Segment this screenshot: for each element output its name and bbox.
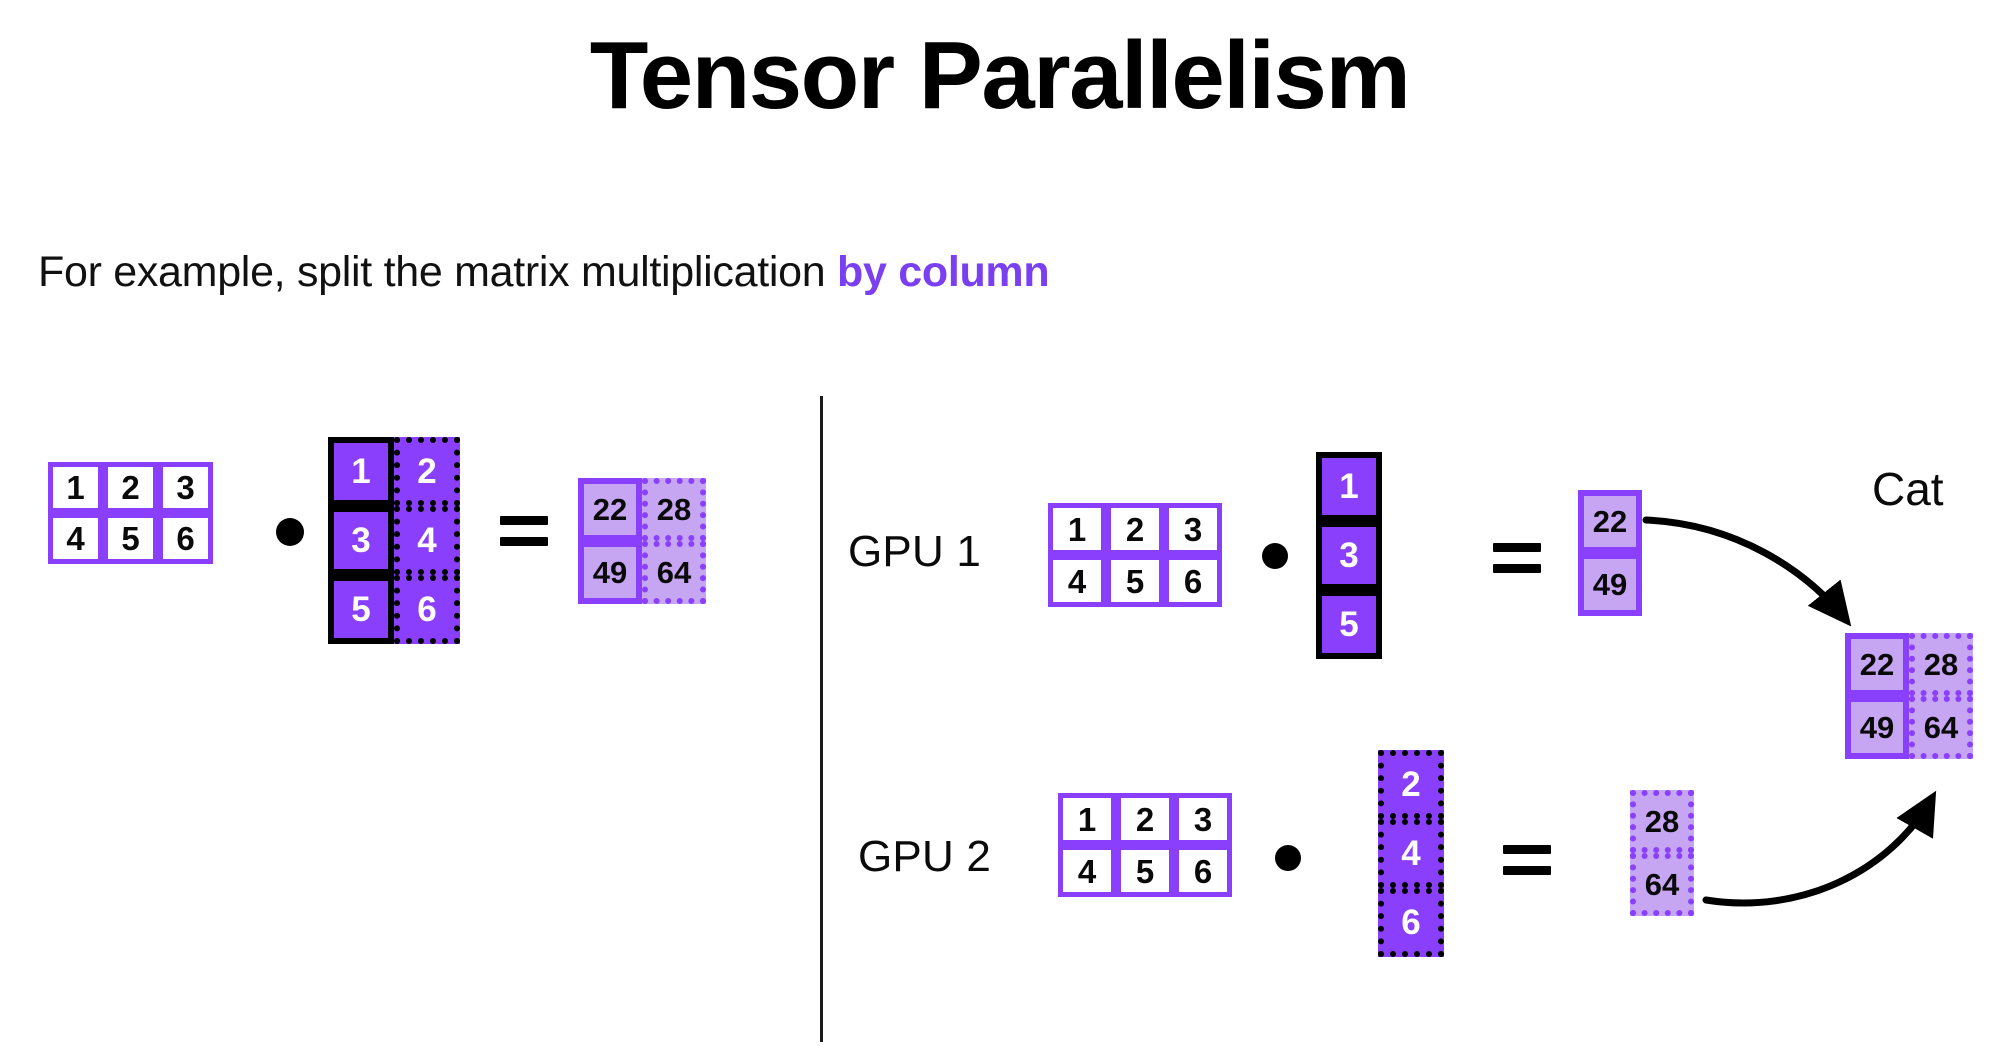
matrix-cell: 2 <box>103 462 158 513</box>
matrix-cell: 3 <box>328 506 394 575</box>
matrix-cell: 1 <box>1058 793 1116 845</box>
matrix-cell: 64 <box>1630 853 1694 916</box>
dot-product-operator-gpu2 <box>1275 845 1301 871</box>
matrix-cell: 28 <box>1630 790 1694 853</box>
gpu1-matrix-b: 1 3 5 <box>1316 452 1382 659</box>
matrix-cell: 6 <box>1174 845 1232 897</box>
subtitle-accent-text: by column <box>837 248 1049 296</box>
concat-result-matrix: 22 28 49 64 <box>1845 633 1973 759</box>
matrix-cell: 4 <box>394 506 460 575</box>
gpu1-to-concat-arrow <box>1646 520 1846 620</box>
matrix-cell: 22 <box>578 478 642 541</box>
matrix-cell: 2 <box>394 437 460 506</box>
equals-operator-gpu1 <box>1493 543 1541 573</box>
matrix-cell: 5 <box>1316 590 1382 659</box>
matrix-cell: 6 <box>158 513 213 564</box>
matrix-cell: 6 <box>1164 555 1222 607</box>
matrix-cell: 2 <box>1106 503 1164 555</box>
matrix-cell: 4 <box>48 513 103 564</box>
matrix-cell: 3 <box>1164 503 1222 555</box>
subtitle-plain-text: For example, split the matrix multiplica… <box>38 248 837 296</box>
matrix-cell: 3 <box>1174 793 1232 845</box>
matrix-cell: 5 <box>1106 555 1164 607</box>
dot-product-operator-gpu1 <box>1262 543 1288 569</box>
matrix-cell: 4 <box>1378 819 1444 888</box>
matrix-cell: 1 <box>48 462 103 513</box>
gpu2-label: GPU 2 <box>858 832 991 882</box>
matrix-cell: 2 <box>1378 750 1444 819</box>
matrix-cell: 64 <box>1909 696 1973 759</box>
slide-canvas: Tensor Parallelism For example, split th… <box>0 0 1999 1064</box>
matrix-cell: 6 <box>394 575 460 644</box>
matrix-cell: 4 <box>1058 845 1116 897</box>
concat-label: Cat <box>1872 462 1944 516</box>
matrix-cell: 4 <box>1048 555 1106 607</box>
dot-product-operator-left <box>276 518 304 546</box>
left-matrix-a: 1 2 3 4 5 6 <box>48 462 213 564</box>
gpu2-matrix-a: 1 2 3 4 5 6 <box>1058 793 1232 897</box>
matrix-cell: 5 <box>1116 845 1174 897</box>
gpu2-to-concat-arrow <box>1706 798 1932 903</box>
left-matrix-result: 22 28 49 64 <box>578 478 706 604</box>
matrix-cell: 64 <box>642 541 706 604</box>
matrix-cell: 49 <box>1845 696 1909 759</box>
equals-operator-gpu2 <box>1503 845 1551 875</box>
matrix-cell: 22 <box>1578 490 1642 553</box>
matrix-cell: 49 <box>1578 553 1642 616</box>
panel-divider <box>820 396 823 1042</box>
matrix-cell: 22 <box>1845 633 1909 696</box>
matrix-cell: 1 <box>1048 503 1106 555</box>
matrix-cell: 1 <box>1316 452 1382 521</box>
matrix-cell: 49 <box>578 541 642 604</box>
matrix-cell: 5 <box>103 513 158 564</box>
gpu1-matrix-result: 22 49 <box>1578 490 1642 616</box>
gpu2-matrix-b: 2 4 6 <box>1378 750 1444 957</box>
matrix-cell: 5 <box>328 575 394 644</box>
matrix-cell: 3 <box>1316 521 1382 590</box>
gpu2-matrix-result: 28 64 <box>1630 790 1694 916</box>
matrix-cell: 28 <box>1909 633 1973 696</box>
gpu1-label: GPU 1 <box>848 527 981 577</box>
matrix-cell: 1 <box>328 437 394 506</box>
equals-operator-left <box>500 516 548 546</box>
matrix-cell: 2 <box>1116 793 1174 845</box>
matrix-cell: 3 <box>158 462 213 513</box>
page-title: Tensor Parallelism <box>0 26 1999 127</box>
matrix-cell: 28 <box>642 478 706 541</box>
page-subtitle: For example, split the matrix multiplica… <box>38 248 1049 297</box>
left-matrix-b: 1 2 3 4 5 6 <box>328 437 460 644</box>
gpu1-matrix-a: 1 2 3 4 5 6 <box>1048 503 1222 607</box>
matrix-cell: 6 <box>1378 888 1444 957</box>
